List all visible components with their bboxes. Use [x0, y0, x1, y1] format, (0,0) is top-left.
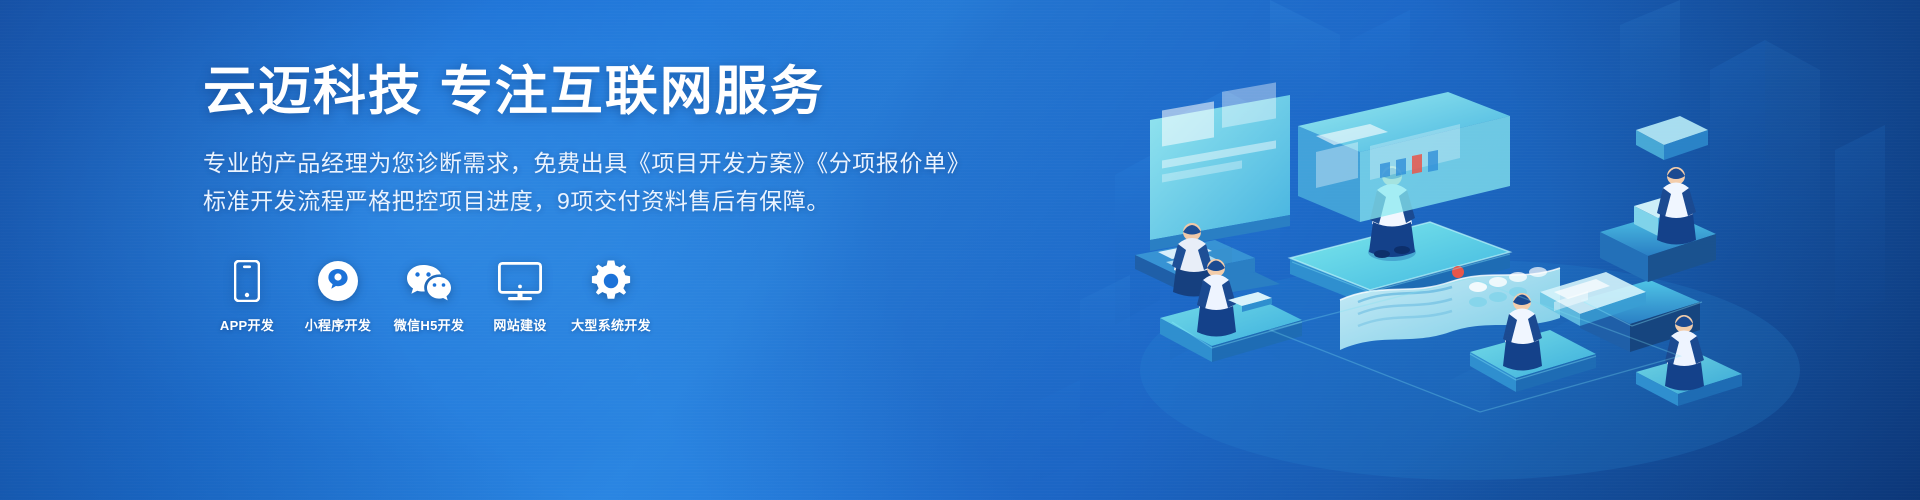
- isometric-illustration: [1040, 0, 1920, 500]
- monitor-icon: [498, 256, 542, 302]
- gear-icon: [590, 256, 632, 302]
- service-item-app[interactable]: APP开发: [211, 256, 283, 334]
- service-item-miniprogram[interactable]: 小程序开发: [302, 256, 374, 334]
- service-label-website: 网站建设: [493, 315, 546, 334]
- wechat-icon: [406, 256, 452, 302]
- mini-program-icon: [317, 256, 359, 302]
- service-item-wechat[interactable]: 微信H5开发: [393, 256, 465, 334]
- service-label-miniprogram: 小程序开发: [305, 315, 372, 334]
- subtitle-line-2: 标准开发流程严格把控项目进度，9项交付资料售后有保障。: [203, 183, 963, 220]
- page-title: 云迈科技 专注互联网服务: [203, 62, 963, 121]
- service-label-wechat: 微信H5开发: [394, 315, 464, 334]
- banner-content: 云迈科技 专注互联网服务 专业的产品经理为您诊断需求，免费出具《项目开发方案》《…: [203, 62, 963, 334]
- service-label-system: 大型系统开发: [571, 315, 651, 334]
- service-icon-list: APP开发 小程序开发: [211, 256, 963, 334]
- subtitle-line-1: 专业的产品经理为您诊断需求，免费出具《项目开发方案》《分项报价单》: [203, 145, 963, 182]
- mobile-phone-icon: [234, 256, 260, 302]
- service-label-app: APP开发: [220, 315, 274, 334]
- promo-banner: 云迈科技 专注互联网服务 专业的产品经理为您诊断需求，免费出具《项目开发方案》《…: [0, 0, 1920, 500]
- service-item-website[interactable]: 网站建设: [484, 256, 556, 334]
- service-item-system[interactable]: 大型系统开发: [575, 256, 647, 334]
- banner-subtitle: 专业的产品经理为您诊断需求，免费出具《项目开发方案》《分项报价单》 标准开发流程…: [203, 145, 963, 220]
